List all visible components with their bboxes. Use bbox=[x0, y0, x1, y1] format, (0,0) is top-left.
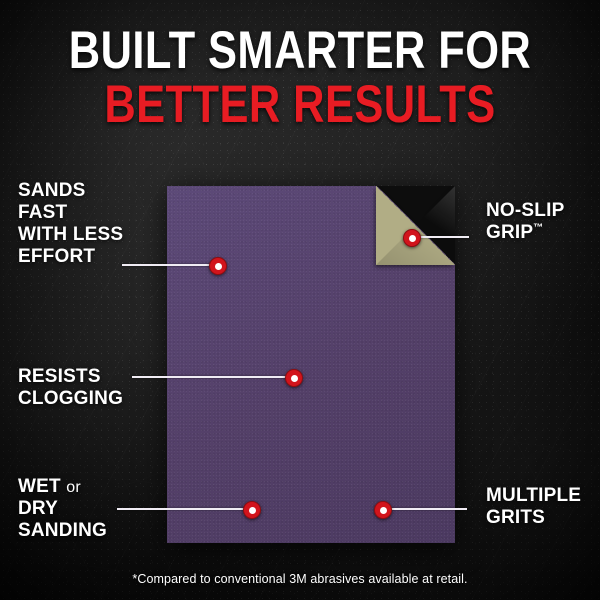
callout-label-sands-fast: SANDS FAST WITH LESS EFFORT bbox=[18, 180, 123, 268]
callout-wetdry-line-3: SANDING bbox=[18, 520, 107, 542]
callout-sands-line-2: FAST bbox=[18, 202, 123, 224]
leader-line-resists bbox=[132, 376, 288, 378]
callout-label-wet-dry-sanding: WET or DRY SANDING bbox=[18, 476, 107, 542]
marketing-poster: BUILT SMARTER FOR BETTER RESULTS SANDS F… bbox=[0, 0, 600, 600]
callout-dot-no-slip-grip[interactable] bbox=[403, 229, 421, 247]
callout-label-multiple-grits: MULTIPLE GRITS bbox=[486, 485, 581, 529]
callout-wetdry-line-2: DRY bbox=[18, 498, 107, 520]
callout-label-resists-clogging: RESISTS CLOGGING bbox=[18, 366, 123, 410]
callout-dot-multiple-grits[interactable] bbox=[374, 501, 392, 519]
callout-multiple-line-2: GRITS bbox=[486, 507, 581, 529]
folded-corner-backing bbox=[376, 186, 455, 265]
callout-noslip-line-2: GRIP™ bbox=[486, 222, 564, 244]
callout-wetdry-line-1: WET or bbox=[18, 476, 107, 498]
callout-sands-line-1: SANDS bbox=[18, 180, 123, 202]
leader-line-sands-fast bbox=[122, 264, 214, 266]
callout-sands-line-4: EFFORT bbox=[18, 246, 123, 268]
headline-line-2: BETTER RESULTS bbox=[54, 80, 546, 130]
footnote-disclaimer: *Compared to conventional 3M abrasives a… bbox=[0, 572, 600, 586]
callout-resists-line-1: RESISTS bbox=[18, 366, 123, 388]
callout-noslip-line-1: NO-SLIP bbox=[486, 200, 564, 222]
leader-line-wet-dry bbox=[117, 508, 246, 510]
callout-dot-wet-dry[interactable] bbox=[243, 501, 261, 519]
callout-resists-line-2: CLOGGING bbox=[18, 388, 123, 410]
leader-line-no-slip-grip bbox=[417, 236, 469, 238]
callout-label-no-slip-grip: NO-SLIP GRIP™ bbox=[486, 200, 564, 244]
leader-line-multiple-grits bbox=[388, 508, 467, 510]
callout-multiple-line-1: MULTIPLE bbox=[486, 485, 581, 507]
headline-line-1: BUILT SMARTER FOR bbox=[54, 26, 546, 76]
callout-noslip-grip: GRIP bbox=[486, 222, 533, 243]
folded-corner-shading bbox=[376, 186, 455, 265]
callout-wetdry-wet: WET bbox=[18, 476, 61, 497]
callout-dot-resists[interactable] bbox=[285, 369, 303, 387]
callout-dot-sands-fast[interactable] bbox=[209, 257, 227, 275]
headline-block: BUILT SMARTER FOR BETTER RESULTS bbox=[0, 26, 600, 130]
trademark-icon: ™ bbox=[533, 223, 543, 234]
callout-wetdry-or: or bbox=[66, 479, 81, 496]
callout-sands-line-3: WITH LESS bbox=[18, 224, 123, 246]
